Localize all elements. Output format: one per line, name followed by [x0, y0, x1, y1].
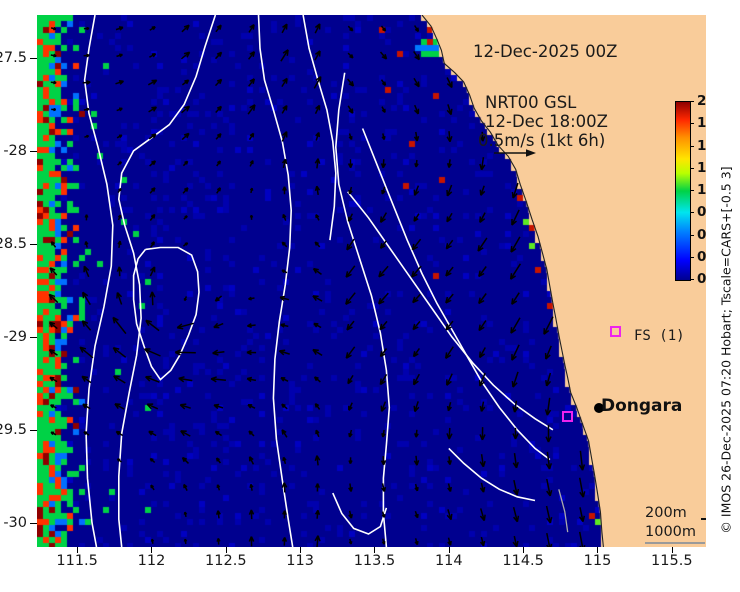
velocity-arrow: [216, 52, 222, 58]
depth-legend-1000m-rule: [645, 542, 705, 544]
depth-legend-200m: 200m: [645, 505, 687, 521]
velocity-arrow: [349, 403, 352, 411]
velocity-arrow: [512, 183, 518, 198]
colorbar-gradient: [675, 101, 691, 281]
x-tick-label: 115.5: [651, 553, 693, 569]
velocity-arrow: [175, 350, 196, 355]
velocity-arrow: [513, 453, 518, 468]
colorbar-tick-label: 1.5: [697, 138, 706, 154]
velocity-arrow: [282, 430, 287, 438]
velocity-arrow: [50, 350, 58, 355]
velocity-arrow: [415, 132, 419, 141]
velocity-arrow: [315, 159, 319, 169]
ssh-contour: [303, 15, 336, 240]
y-tick-label: -29.5: [0, 422, 27, 438]
velocity-arrow: [150, 215, 154, 221]
ssh-contour: [333, 493, 387, 534]
velocity-arrow: [415, 484, 418, 491]
velocity-arrow: [479, 294, 486, 304]
velocity-arrow: [51, 54, 56, 56]
velocity-arrow: [185, 296, 187, 300]
fs-square-marker[interactable]: [610, 326, 621, 337]
velocity-arrow: [150, 459, 154, 463]
velocity-arrow: [480, 483, 484, 492]
velocity-arrow: [511, 237, 520, 252]
colorbar-tick: [690, 279, 694, 280]
velocity-arrow: [480, 508, 485, 520]
y-tick-label: -29: [3, 329, 27, 345]
velocity-arrow: [85, 215, 88, 221]
velocity-arrow: [381, 213, 387, 223]
velocity-arrow: [316, 105, 320, 113]
velocity-arrow: [349, 214, 353, 222]
velocity-arrow: [51, 81, 56, 83]
velocity-arrow: [447, 78, 452, 88]
colorbar-tick: [690, 146, 694, 147]
velocity-arrow: [415, 26, 419, 32]
velocity-arrow: [150, 267, 154, 276]
velocity-arrow: [448, 159, 452, 167]
velocity-arrow: [50, 322, 58, 328]
colorbar-tick-label: 0.5: [697, 227, 706, 243]
velocity-arrow: [546, 452, 551, 469]
velocity-arrow: [415, 105, 419, 114]
velocity-arrow: [250, 457, 254, 465]
velocity-arrow: [184, 539, 186, 544]
velocity-arrow: [511, 264, 521, 279]
colorbar-tick-label: 0.75: [697, 204, 706, 220]
velocity-arrow: [184, 484, 187, 490]
velocity-arrow: [283, 537, 287, 545]
x-tick-label: 114: [435, 553, 463, 569]
colorbar-tick: [690, 190, 694, 191]
velocity-arrow: [181, 52, 189, 59]
velocity-arrow: [381, 241, 387, 249]
velocity-arrow: [179, 377, 193, 382]
velocity-arrow: [115, 404, 124, 409]
velocity-arrow: [414, 51, 420, 59]
velocity-arrow: [214, 323, 223, 327]
date-title: 12-Dec-2025 00Z: [473, 42, 617, 61]
velocity-arrow: [379, 266, 388, 277]
credit-text: © IMOS 26-Dec-2025 07:20 Hobart; Tscale=…: [719, 166, 734, 533]
colorbar-tick: [690, 212, 694, 213]
depth-legend-1000m: 1000m: [645, 524, 696, 540]
velocity-arrow: [113, 348, 125, 358]
velocity-arrow: [349, 511, 352, 518]
velocity-arrow: [146, 320, 159, 330]
velocity-arrow: [281, 378, 288, 381]
model-time-label: 12-Dec 18:00Z: [485, 112, 608, 131]
velocity-arrow: [51, 242, 55, 248]
velocity-arrow: [150, 292, 155, 305]
velocity-arrow: [84, 136, 88, 138]
velocity-arrow: [182, 133, 189, 139]
y-tick: [30, 58, 37, 59]
velocity-arrow: [382, 187, 385, 194]
velocity-arrow: [84, 266, 89, 277]
y-tick: [30, 337, 37, 338]
velocity-arrow: [214, 405, 223, 409]
x-tick-label: 112.5: [205, 553, 247, 569]
velocity-arrow: [413, 321, 420, 329]
velocity-arrow: [448, 456, 452, 464]
velocity-arrow: [349, 159, 353, 168]
velocity-arrow: [414, 456, 418, 465]
velocity-arrow: [514, 507, 519, 522]
velocity-arrow: [316, 133, 320, 141]
velocity-arrow: [414, 348, 420, 356]
velocity-arrow: [82, 321, 90, 330]
velocity-arrow: [349, 457, 352, 463]
site-square-marker[interactable]: [562, 411, 573, 422]
velocity-arrow: [349, 134, 352, 140]
velocity-arrow: [314, 269, 322, 275]
velocity-arrow: [216, 134, 221, 140]
velocity-arrow: [382, 80, 386, 86]
velocity-arrow: [412, 239, 420, 250]
velocity-arrow: [215, 432, 221, 436]
velocity-arrow: [580, 532, 585, 547]
velocity-arrow: [480, 348, 486, 358]
velocity-arrow: [316, 430, 319, 437]
velocity-arrow: [184, 512, 186, 517]
velocity-arrow: [580, 478, 585, 497]
velocity-arrow: [283, 214, 286, 220]
velocity-arrow: [250, 215, 252, 220]
x-tick-label: 115: [584, 553, 612, 569]
velocity-arrow: [84, 108, 89, 110]
velocity-arrow: [282, 78, 287, 86]
velocity-arrow: [412, 266, 421, 277]
velocity-arrow: [283, 457, 286, 464]
velocity-arrow: [446, 240, 452, 249]
colorbar-tick: [690, 123, 694, 124]
velocity-arrow: [415, 511, 418, 518]
velocity-arrow: [85, 242, 88, 248]
depth-legend-200m-rule: [701, 518, 706, 520]
velocity-arrow: [447, 374, 452, 386]
velocity-arrow: [216, 79, 222, 85]
velocity-arrow: [580, 451, 585, 470]
velocity-arrow: [315, 377, 321, 382]
velocity-arrow: [512, 210, 519, 225]
velocity-arrow: [446, 347, 454, 359]
colorbar-tick-label: 0.25: [697, 249, 706, 265]
velocity-arrow: [580, 507, 585, 521]
colorbar-tick-label: 2: [697, 93, 706, 109]
velocity-arrow: [149, 431, 156, 435]
fs-marker-label: FS (1): [634, 328, 685, 344]
ssh-contour: [85, 15, 113, 547]
colorbar-tick-label: 1: [697, 182, 706, 198]
velocity-arrow: [113, 317, 126, 333]
velocity-arrow: [282, 483, 286, 493]
velocity-arrow: [415, 430, 418, 437]
velocity-arrow: [149, 134, 156, 139]
velocity-arrow: [249, 52, 255, 60]
colorbar-tick-label: 1.75: [697, 115, 706, 131]
x-tick-label: 114.5: [502, 553, 544, 569]
velocity-arrow: [315, 51, 320, 60]
velocity-arrow: [248, 105, 255, 114]
velocity-arrow: [282, 24, 287, 33]
velocity-arrow: [447, 213, 452, 222]
velocity-arrow: [346, 266, 355, 277]
velocity-arrow: [118, 241, 121, 248]
velocity-arrow: [315, 404, 319, 410]
velocity-arrow: [117, 135, 122, 138]
velocity-arrow: [382, 483, 386, 491]
velocity-arrow: [117, 54, 123, 57]
velocity-arrow: [413, 294, 420, 302]
velocity-arrow: [116, 81, 124, 85]
velocity-arrow: [51, 405, 57, 408]
velocity-arrow: [347, 239, 354, 250]
velocity-arrow: [448, 402, 452, 411]
velocity-arrow: [183, 458, 189, 464]
velocity-arrow: [316, 215, 319, 221]
velocity-arrow: [83, 81, 91, 84]
velocity-arrow: [182, 25, 189, 32]
velocity-arrow: [51, 432, 56, 435]
colorbar-tick: [690, 235, 694, 236]
map-plot-area[interactable]: 12-Dec-2025 00Z NRT00 GSL 12-Dec 18:00Z …: [37, 15, 706, 547]
velocity-arrow: [315, 242, 320, 247]
velocity-arrow: [346, 347, 354, 358]
velocity-arrow: [511, 318, 520, 333]
velocity-arrow: [250, 188, 252, 193]
velocity-arrow: [414, 401, 419, 411]
velocity-arrow: [315, 536, 320, 547]
velocity-arrow: [382, 133, 385, 139]
velocity-arrow: [382, 430, 385, 437]
velocity-arrow: [117, 293, 122, 305]
velocity-arrow: [216, 25, 221, 32]
velocity-arrow: [49, 294, 58, 302]
vector-reference-arrow: [492, 146, 538, 160]
velocity-arrow: [349, 539, 351, 544]
velocity-arrow: [447, 428, 452, 439]
velocity-arrow: [152, 539, 154, 544]
x-tick-label: 111.5: [56, 553, 98, 569]
velocity-arrow: [478, 238, 487, 251]
velocity-arrow: [346, 293, 355, 305]
velocity-arrow: [282, 132, 286, 142]
velocity-arrow: [283, 511, 287, 519]
velocity-arrow: [480, 157, 485, 170]
velocity-arrow: [414, 374, 420, 385]
velocity-arrow: [118, 215, 120, 220]
velocity-arrow: [183, 243, 187, 246]
ssh-contour: [348, 192, 553, 430]
velocity-arrow: [514, 480, 519, 495]
velocity-arrow: [481, 537, 485, 546]
velocity-arrow: [547, 506, 552, 523]
velocity-arrow: [250, 484, 253, 490]
velocity-arrow: [382, 26, 386, 31]
velocity-arrow: [447, 509, 452, 519]
velocity-arrow: [50, 268, 57, 275]
model-run-label: NRT00 GSL: [485, 93, 576, 112]
velocity-arrow: [448, 538, 451, 546]
velocity-arrow: [114, 376, 126, 383]
velocity-arrow: [380, 374, 386, 384]
velocity-arrow: [544, 317, 553, 335]
velocity-arrow: [147, 404, 158, 409]
velocity-arrow: [446, 267, 453, 276]
x-tick-label: 113: [286, 553, 314, 569]
velocity-arrow: [414, 214, 419, 222]
y-tick-label: -28.5: [0, 236, 27, 252]
velocity-arrow: [547, 479, 552, 496]
depth-contour-1000m: [559, 489, 568, 532]
x-tick-label: 112: [138, 553, 166, 569]
velocity-arrow: [146, 377, 160, 383]
velocity-arrow: [283, 159, 287, 168]
velocity-arrow: [480, 213, 485, 223]
city-label-dongara: Dongara: [601, 396, 682, 416]
velocity-arrow: [249, 79, 255, 86]
colorbar-tick: [690, 257, 694, 258]
velocity-arrow: [446, 294, 453, 303]
figure-root: 12-Dec-2025 00Z NRT00 GSL 12-Dec 18:00Z …: [0, 0, 740, 592]
velocity-arrow: [379, 293, 389, 304]
velocity-arrow: [215, 296, 221, 301]
velocity-arrow: [348, 106, 353, 113]
velocity-arrow: [217, 161, 221, 166]
y-tick: [30, 244, 37, 245]
velocity-arrow: [149, 54, 155, 57]
velocity-arrow: [117, 108, 123, 111]
velocity-arrow: [80, 347, 93, 358]
velocity-arrow: [84, 54, 90, 57]
x-tick-label: 113.5: [354, 553, 396, 569]
velocity-arrow: [513, 536, 518, 547]
velocity-arrow: [247, 378, 256, 382]
velocity-arrow: [211, 377, 226, 382]
velocity-arrow: [349, 430, 352, 437]
y-tick: [30, 430, 37, 431]
velocity-arrow: [217, 511, 221, 519]
velocity-arrow: [117, 267, 121, 276]
velocity-arrow: [414, 186, 418, 196]
velocity-arrow: [382, 539, 384, 545]
y-tick-label: -28: [3, 143, 27, 159]
velocity-arrow: [547, 533, 552, 547]
velocity-arrow: [480, 454, 485, 467]
colorbar-tick-label: 0: [697, 271, 706, 287]
velocity-arrow: [315, 24, 320, 33]
velocity-arrow: [512, 293, 519, 305]
velocity-arrow: [447, 131, 452, 142]
velocity-arrow: [150, 188, 155, 193]
velocity-arrow: [217, 485, 219, 491]
velocity-arrow: [217, 458, 221, 463]
velocity-arrow: [149, 107, 157, 112]
velocity-arrow: [347, 321, 354, 330]
velocity-arrow: [448, 484, 452, 492]
velocity-arrow: [380, 321, 387, 329]
velocity-arrow: [184, 216, 187, 219]
velocity-arrow: [180, 404, 190, 409]
velocity-arrow: [249, 510, 253, 519]
velocity-arrow: [282, 404, 287, 409]
velocity-arrow: [150, 161, 156, 166]
velocity-arrow: [381, 52, 387, 59]
velocity-arrow: [282, 106, 287, 114]
velocity-arrow: [116, 27, 123, 30]
velocity-arrow: [249, 537, 253, 547]
velocity-arrow: [349, 187, 352, 194]
ssh-contour: [259, 15, 293, 547]
velocity-arrow: [50, 377, 57, 381]
velocity-arrow: [382, 159, 386, 168]
velocity-arrow: [313, 350, 322, 356]
velocity-arrow: [480, 427, 485, 440]
velocity-arrow: [313, 296, 322, 301]
velocity-arrow: [415, 538, 418, 544]
velocity-arrow: [250, 133, 254, 139]
velocity-arrow: [282, 242, 287, 247]
velocity-arrow: [512, 345, 519, 360]
velocity-arrow: [84, 27, 89, 29]
velocity-arrow: [217, 188, 221, 194]
velocity-arrow: [249, 25, 254, 33]
velocity-arrow: [512, 372, 518, 387]
velocity-arrow: [250, 161, 253, 167]
velocity-arrow: [216, 107, 222, 113]
y-tick: [30, 523, 37, 524]
velocity-arrow: [546, 398, 551, 415]
velocity-arrow: [51, 109, 56, 111]
velocity-arrow: [51, 27, 56, 29]
velocity-arrow: [213, 350, 225, 355]
ssh-contour: [449, 448, 535, 500]
velocity-arrow: [381, 402, 385, 412]
velocity-arrow: [348, 375, 353, 383]
y-tick: [30, 151, 37, 152]
velocity-arrow: [249, 297, 255, 300]
velocity-arrow: [280, 297, 289, 301]
velocity-arrow: [281, 50, 288, 61]
velocity-arrow: [247, 324, 255, 328]
velocity-arrow: [315, 456, 319, 466]
velocity-arrow: [183, 188, 188, 193]
velocity-arrow: [249, 431, 254, 436]
velocity-arrow: [279, 350, 289, 355]
velocity-arrow: [316, 186, 320, 195]
map-overlay: [37, 15, 706, 547]
velocity-arrow: [480, 186, 484, 196]
velocity-arrow: [151, 242, 154, 247]
velocity-arrow: [151, 485, 154, 490]
velocity-arrow: [247, 350, 256, 354]
velocity-arrow: [248, 405, 255, 408]
velocity-arrow: [148, 80, 156, 85]
velocity-arrow: [83, 292, 91, 304]
velocity-arrow: [150, 27, 155, 30]
velocity-arrow: [281, 324, 289, 327]
velocity-arrow: [348, 79, 354, 86]
velocity-arrow: [447, 185, 452, 196]
velocity-arrow: [183, 161, 187, 165]
velocity-arrow: [314, 324, 321, 328]
velocity-arrow: [118, 162, 122, 165]
ssh-contour: [336, 73, 390, 547]
velocity-arrow: [480, 402, 484, 412]
eddy-contour: [134, 248, 199, 380]
